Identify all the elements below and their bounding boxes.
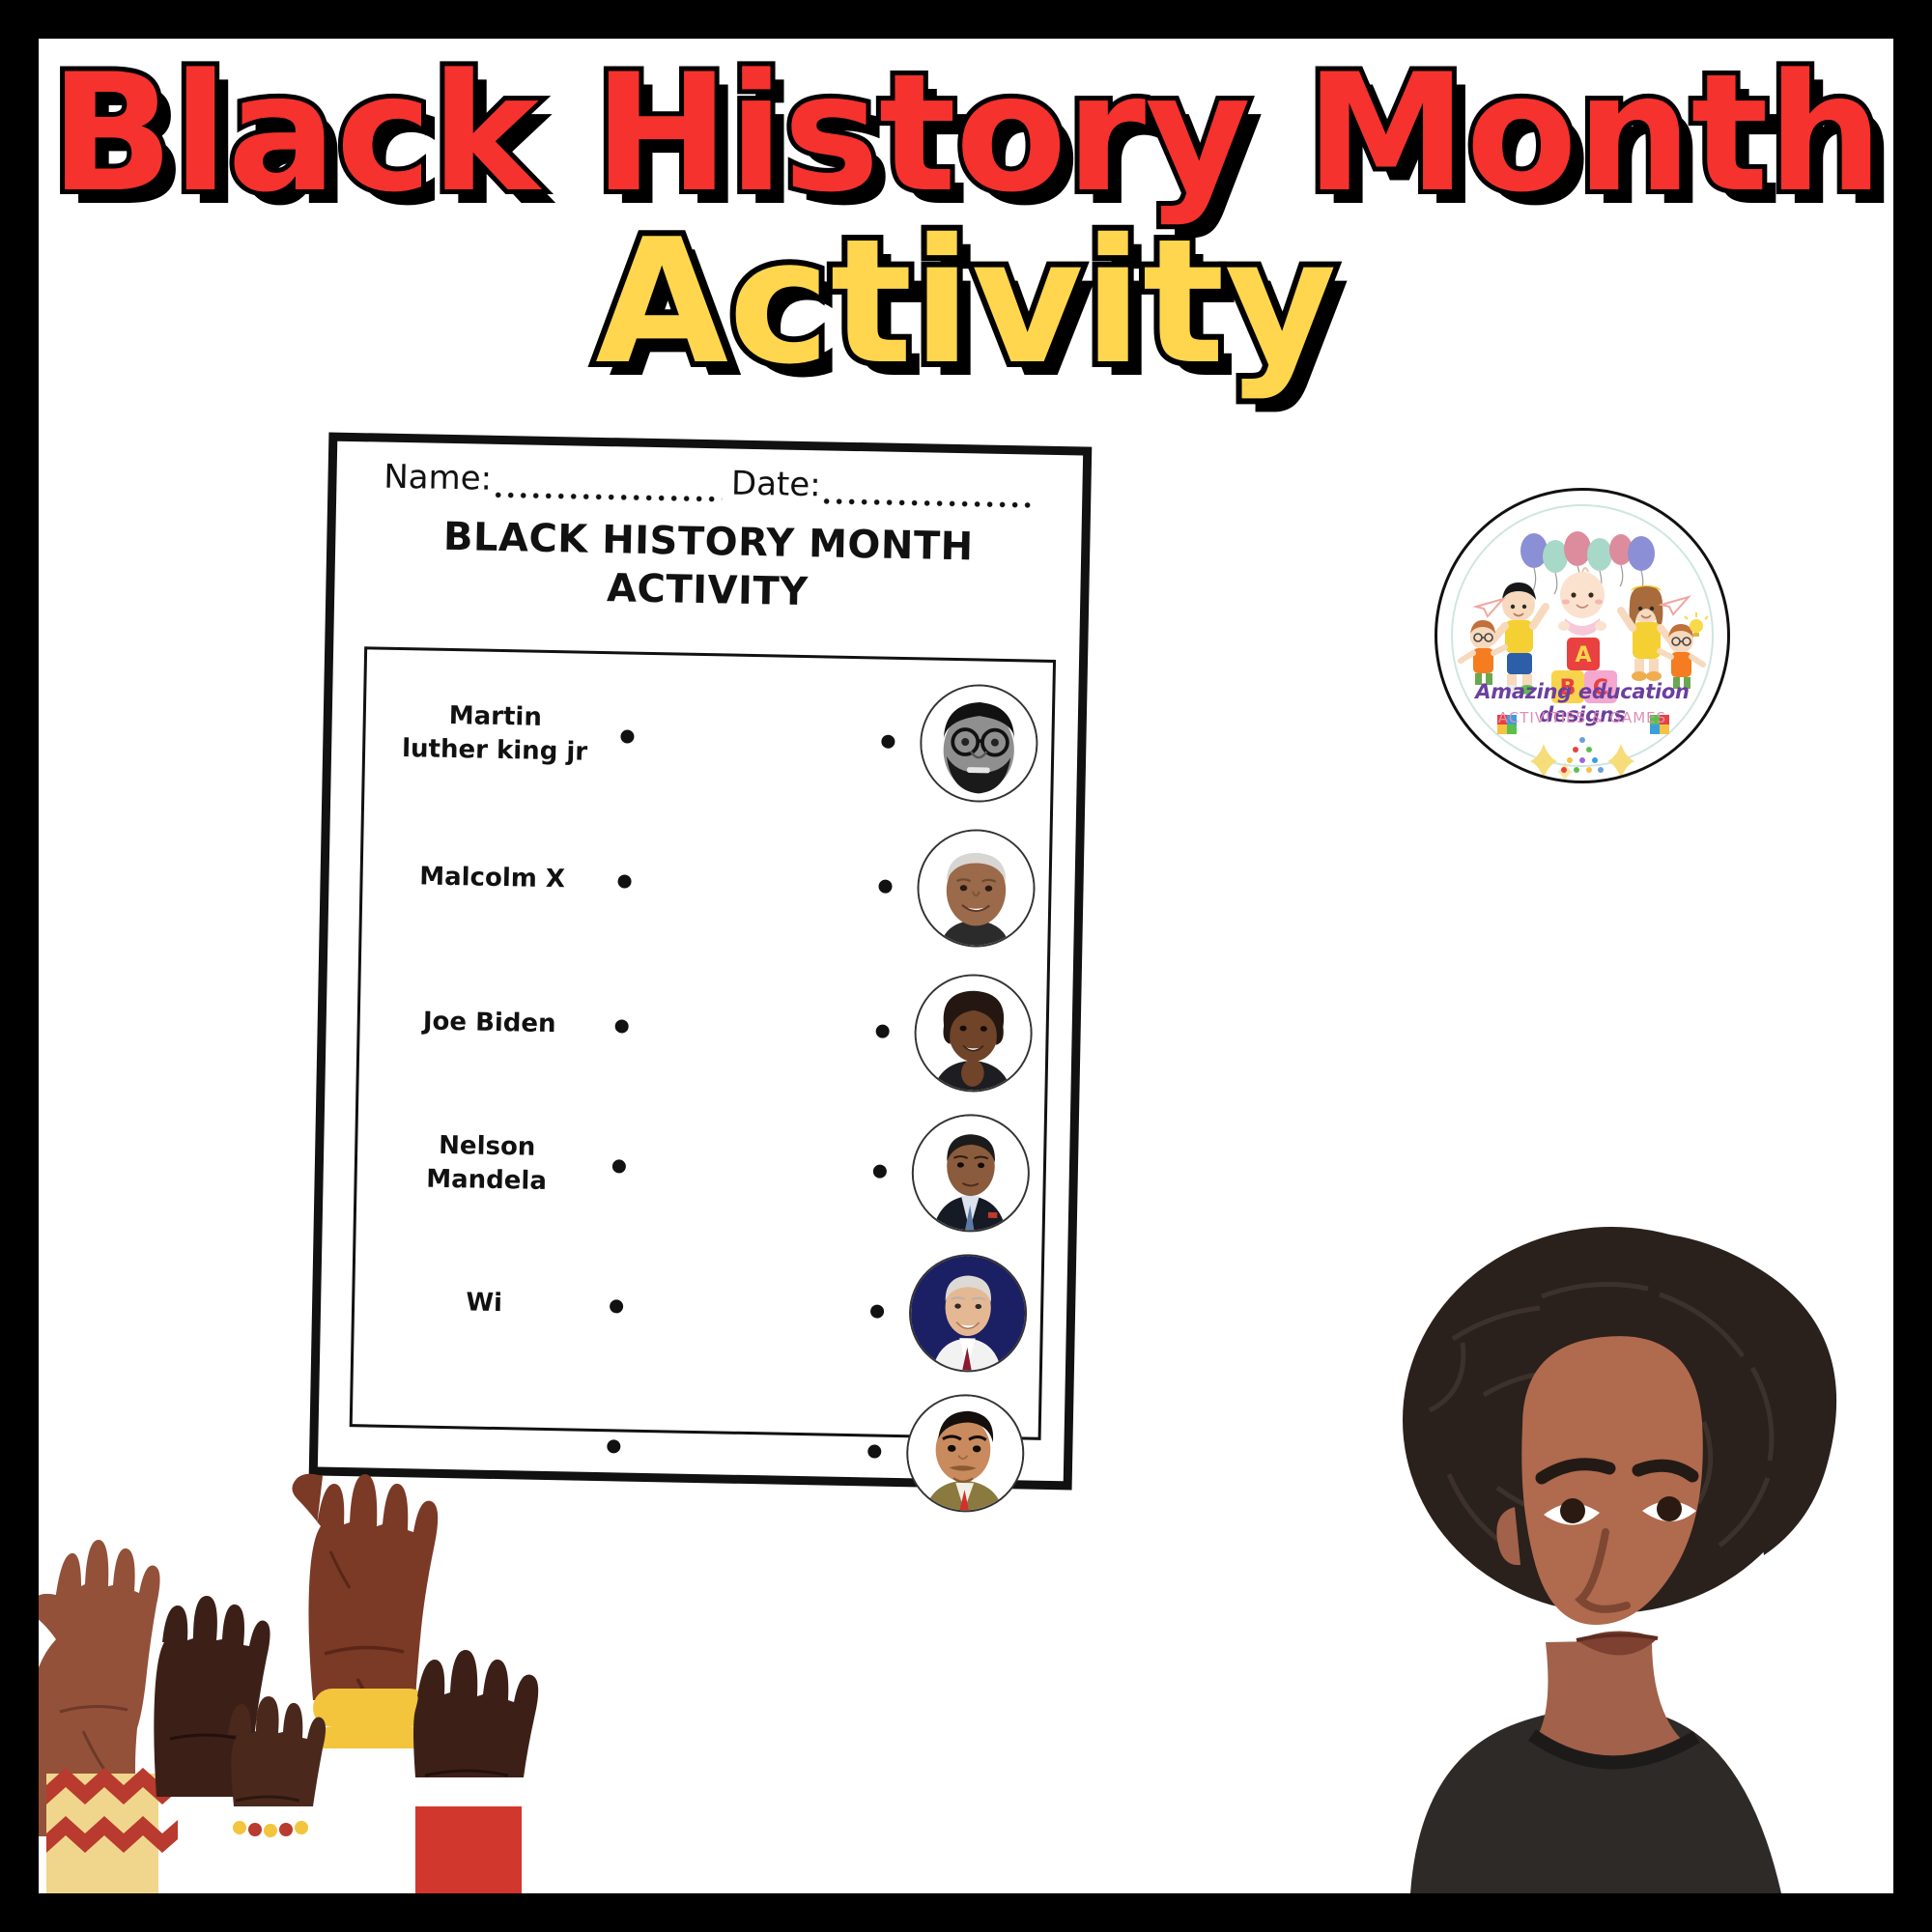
person-name-label: Nelson Mandela: [356, 1127, 599, 1200]
person-name-label: Wi: [355, 1285, 597, 1323]
person-name-label: Joe Biden: [359, 1005, 602, 1043]
hand-2: [154, 1596, 270, 1797]
woman-with-afro-illustration: [1352, 1188, 1893, 1893]
name-dotted-line[interactable]: [492, 477, 722, 503]
match-row[interactable]: [351, 1369, 1039, 1527]
joe-biden-portrait[interactable]: [908, 1253, 1028, 1373]
date-dotted-line[interactable]: [820, 483, 1035, 508]
match-gap: [623, 1307, 870, 1312]
child-girl-icon: [1621, 585, 1673, 681]
person-name-label: [352, 1441, 593, 1446]
match-dot-right[interactable]: [881, 735, 895, 749]
martin-luther-king-portrait[interactable]: [905, 1393, 1025, 1513]
worksheet-page: Name: Date: BLACK HISTORY MONTH ACTIVITY: [309, 433, 1093, 1491]
title-line-activity: Activity: [39, 213, 1893, 393]
poster-root: Black History Month Activity Name: Date:: [0, 0, 1932, 1932]
logo-illustration: A B C: [1437, 491, 1727, 781]
match-dot-left[interactable]: [620, 729, 634, 743]
match-row[interactable]: Joe Biden: [358, 949, 1047, 1107]
barack-obama-portrait[interactable]: [911, 1113, 1031, 1233]
match-dot-right[interactable]: [873, 1164, 887, 1178]
person-name-label: Malcolm X: [362, 860, 605, 898]
hand-4: [228, 1696, 326, 1837]
match-gap: [626, 1167, 873, 1172]
brand-logo[interactable]: A B C: [1435, 488, 1730, 783]
match-dot-left[interactable]: [610, 1299, 623, 1313]
match-dot-right[interactable]: [870, 1304, 884, 1318]
match-gap: [629, 1027, 876, 1032]
person-name-label: Martin luther king jr: [365, 697, 608, 770]
person-name-line2: luther king jr: [383, 732, 608, 771]
name-label: Name:: [384, 458, 493, 498]
bracelet-1: [46, 1768, 178, 1893]
name-field[interactable]: Name:: [384, 458, 722, 503]
person-name-line1: Malcolm X: [380, 860, 605, 898]
logo-tagline: ACTIVITIES & GAMES: [1437, 709, 1727, 726]
svg-text:A: A: [1575, 643, 1591, 668]
baby-icon: [1558, 568, 1606, 636]
person-name-line1: Nelson: [375, 1127, 600, 1166]
match-row[interactable]: Nelson Mandela: [356, 1089, 1045, 1247]
match-dot-left[interactable]: [612, 1159, 626, 1173]
match-dot-left[interactable]: [607, 1439, 620, 1453]
nelson-mandela-portrait[interactable]: [916, 828, 1036, 948]
match-rows: Martin luther king jr: [353, 649, 1053, 1436]
match-dot-right[interactable]: [876, 1025, 890, 1038]
match-dot-right[interactable]: [878, 880, 892, 894]
person-name-line1: Joe Biden: [377, 1005, 602, 1043]
match-row[interactable]: Malcolm X: [361, 804, 1050, 962]
worksheet-heading: BLACK HISTORY MONTH ACTIVITY: [334, 511, 1082, 623]
worksheet-header-fields: Name: Date:: [336, 457, 1083, 510]
match-gap: [632, 882, 879, 887]
match-gap: [620, 1447, 867, 1452]
match-gap: [634, 737, 881, 742]
title-line-black-history-month: Black History Month: [39, 48, 1893, 218]
person-name-line1: Wi: [372, 1285, 597, 1323]
match-row[interactable]: Wi: [354, 1229, 1042, 1387]
person-name-line1: [369, 1442, 593, 1446]
match-dot-left[interactable]: [615, 1019, 629, 1033]
worksheet-border: Name: Date: BLACK HISTORY MONTH ACTIVITY: [309, 433, 1093, 1491]
date-field[interactable]: Date:: [731, 465, 1036, 509]
hand-5: [413, 1650, 538, 1893]
poster-title: Black History Month Activity: [39, 48, 1893, 393]
match-row[interactable]: Martin luther king jr: [364, 659, 1053, 817]
date-label: Date:: [731, 465, 821, 505]
person-name-line1: Martin: [383, 698, 608, 737]
person-name-line2: Mandela: [374, 1162, 599, 1201]
match-dot-left[interactable]: [617, 874, 631, 888]
match-dot-right[interactable]: [867, 1444, 881, 1458]
oprah-winfrey-portrait[interactable]: [913, 973, 1033, 1093]
activity-box: Martin luther king jr: [350, 646, 1056, 1440]
hand-1: [39, 1540, 160, 1836]
malcolm-x-portrait[interactable]: [919, 683, 1038, 803]
beaded-bracelet: [233, 1821, 308, 1837]
poster-canvas: Black History Month Activity Name: Date:: [39, 39, 1893, 1893]
